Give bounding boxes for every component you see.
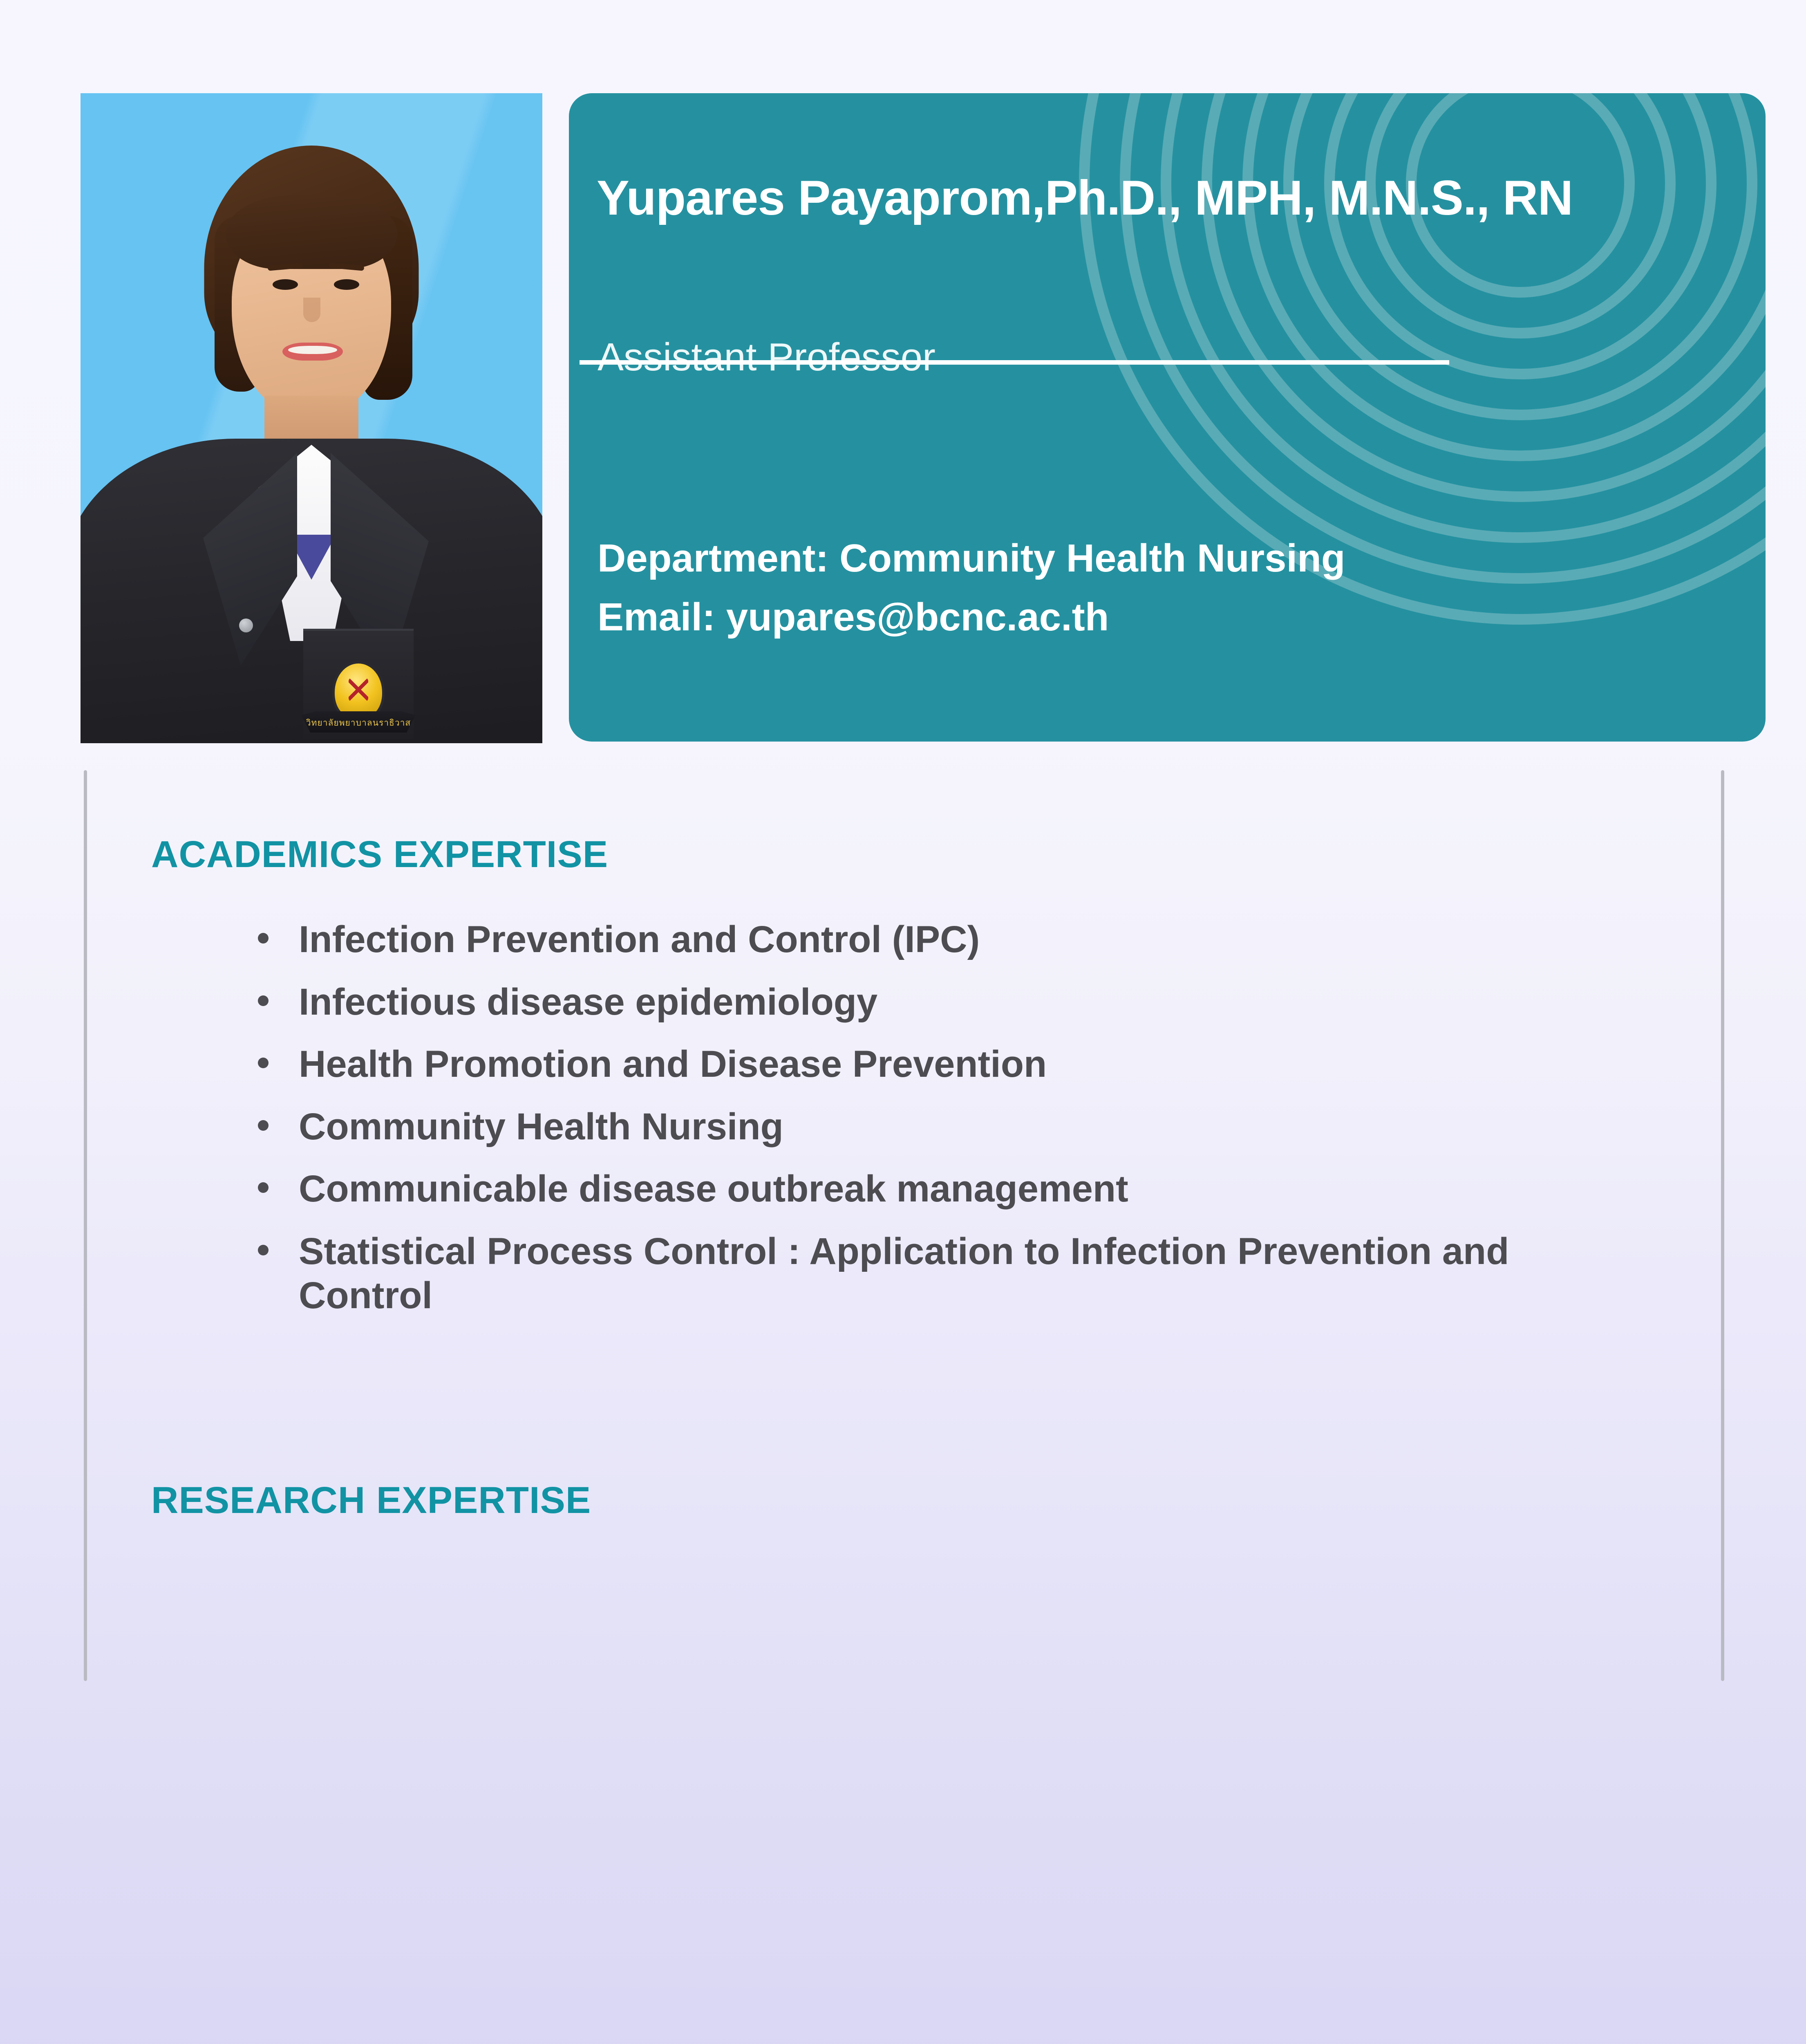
faculty-header-card: Yupares Payaprom,Ph.D., MPH, M.N.S., RN … xyxy=(569,93,1766,742)
photo-eye-right xyxy=(334,279,359,290)
faculty-portrait-photo: วิทยาลัยพยาบาลนราธิวาส xyxy=(81,93,542,743)
faculty-contact-block: Department: Community Health Nursing Ema… xyxy=(598,539,1345,637)
list-item: Statistical Process Control : Applicatio… xyxy=(251,1229,1649,1318)
emblem-ribbon-label: วิทยาลัยพยาบาลนราธิวาส xyxy=(304,716,412,730)
panel-rule-left xyxy=(84,770,87,1681)
academics-expertise-list: Infection Prevention and Control (IPC) I… xyxy=(251,917,1649,1336)
photo-teeth xyxy=(288,346,337,354)
photo-bangs xyxy=(226,195,397,269)
photo-eye-left xyxy=(273,279,298,290)
email-label: Email: xyxy=(598,595,715,639)
list-item: Communicable disease outbreak management xyxy=(251,1167,1649,1211)
list-item: Infection Prevention and Control (IPC) xyxy=(251,917,1649,962)
poster-page: วิทยาลัยพยาบาลนราธิวาส Yupares Payaprom,… xyxy=(0,0,1806,2044)
list-item: Infectious disease epidemiology xyxy=(251,980,1649,1024)
research-expertise-heading: RESEARCH EXPERTISE xyxy=(151,1481,591,1519)
expertise-content-panel: ACADEMICS EXPERTISE Infection Prevention… xyxy=(84,770,1723,1681)
faculty-role: Assistant Professor xyxy=(598,338,935,377)
panel-rule-right xyxy=(1721,770,1724,1681)
list-item: Community Health Nursing xyxy=(251,1105,1649,1149)
header-divider xyxy=(580,360,1449,365)
department-row: Department: Community Health Nursing xyxy=(598,539,1345,578)
faculty-name: Yupares Payaprom,Ph.D., MPH, M.N.S., RN xyxy=(597,173,1749,222)
photo-nose xyxy=(303,298,320,322)
department-value: Community Health Nursing xyxy=(839,536,1345,580)
department-label: Department: xyxy=(598,536,828,580)
photo-blazer-button xyxy=(239,619,253,632)
email-value[interactable]: yupares@bcnc.ac.th xyxy=(726,595,1109,639)
academics-expertise-heading: ACADEMICS EXPERTISE xyxy=(151,836,608,873)
list-item: Health Promotion and Disease Prevention xyxy=(251,1042,1649,1087)
email-row: Email: yupares@bcnc.ac.th xyxy=(598,598,1345,637)
emblem-monogram-icon xyxy=(349,678,368,702)
